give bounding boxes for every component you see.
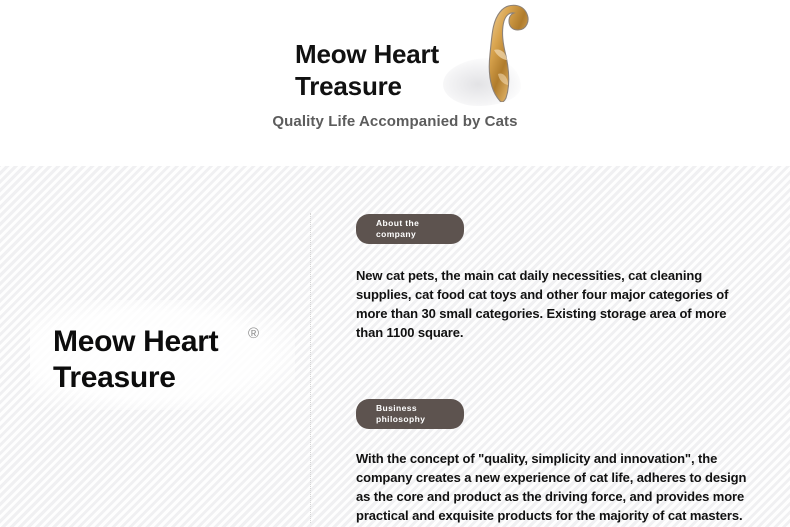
page-root: Meow Heart Treasure Quality Life Accompa… [0,0,790,527]
header-subtitle: Quality Life Accompanied by Cats [0,113,790,130]
section-badge-business-philosophy: Business philosophy [356,399,464,429]
registered-trademark-icon: ® [248,326,259,341]
section-badge-about-the-company: About the company [356,214,464,244]
section-about-company: About the company New cat pets, the main… [356,214,766,342]
section-body-about-the-company: New cat pets, the main cat daily necessi… [356,266,756,342]
header-band: Meow Heart Treasure Quality Life Accompa… [0,0,790,166]
brand-lockup: Meow Heart Treasure ® [53,324,283,396]
vertical-dotted-divider [310,213,312,523]
section-body-business-philosophy: With the concept of "quality, simplicity… [356,449,756,525]
header-title: Meow Heart Treasure [295,38,555,102]
section-business-philosophy: Business philosophy With the concept of … [356,399,766,525]
